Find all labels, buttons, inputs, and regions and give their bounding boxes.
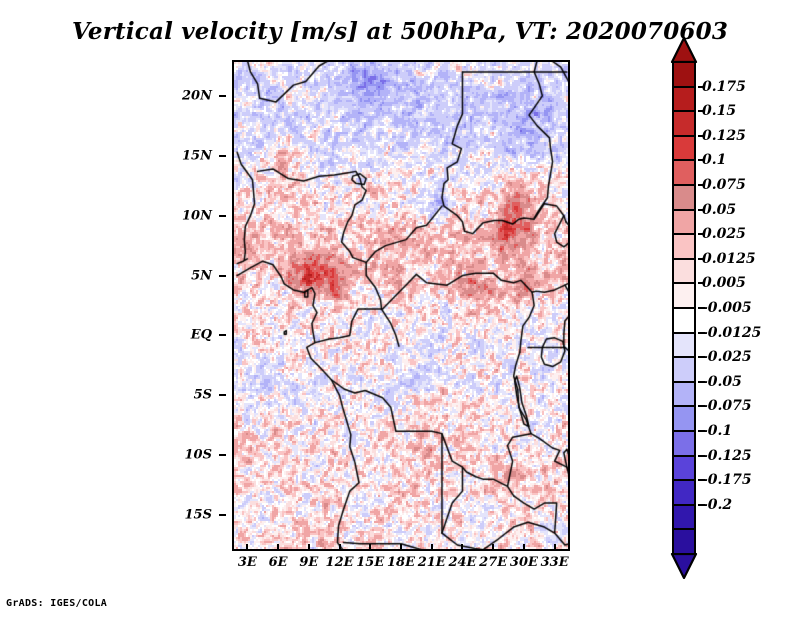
- colorbar-band: [672, 62, 696, 87]
- y-axis-latitude: 20N15N10N5NEQ5S10S15S: [160, 60, 226, 551]
- y-tick-label: 15S: [185, 508, 212, 523]
- colorbar-tick-label: -0.05: [702, 374, 742, 390]
- colorbar-band: [672, 431, 696, 456]
- x-tick-mark: [339, 544, 341, 551]
- x-tick-label: 3E: [238, 555, 257, 570]
- colorbar-band: [672, 210, 696, 235]
- x-axis-longitude: 3E6E9E12E15E18E21E24E27E30E33E: [232, 551, 570, 577]
- colorbar-band: [672, 87, 696, 112]
- colorbar-tick-label: 0.025: [702, 226, 746, 242]
- colorbar-bottom-arrow: [670, 553, 698, 579]
- colorbar-band: [672, 406, 696, 431]
- y-tick-label: 20N: [182, 88, 212, 103]
- x-tick-label: 9E: [299, 555, 318, 570]
- colorbar-band: [672, 136, 696, 161]
- x-tick-mark: [492, 544, 494, 551]
- x-tick-label: 6E: [269, 555, 288, 570]
- colorbar-tick-label: -0.1: [702, 423, 732, 439]
- colorbar-tick-label: -0.005: [702, 300, 752, 316]
- x-tick-mark: [246, 544, 248, 551]
- x-tick-label: 27E: [479, 555, 507, 570]
- colorbar-band: [672, 357, 696, 382]
- colorbar-tick-label: 0.05: [702, 202, 736, 218]
- y-tick-mark: [219, 334, 226, 336]
- colorbar-band: [672, 529, 696, 554]
- colorbar-band: [672, 111, 696, 136]
- colorbar-band: [672, 333, 696, 358]
- colorbar-band: [672, 480, 696, 505]
- y-tick-label: EQ: [191, 328, 212, 343]
- colorbar-tick-label: 0.0125: [702, 251, 756, 267]
- colorbar-tick-label: -0.125: [702, 448, 752, 464]
- y-tick-label: 15N: [182, 148, 212, 163]
- colorbar-tick-label: 0.125: [702, 128, 746, 144]
- colorbar: 0.1750.150.1250.10.0750.050.0250.01250.0…: [672, 62, 696, 554]
- colorbar-band: [672, 234, 696, 259]
- y-tick-mark: [219, 454, 226, 456]
- x-tick-label: 21E: [418, 555, 446, 570]
- map-plot-area: [232, 60, 570, 551]
- country-borders-overlay: [232, 60, 570, 551]
- y-tick-label: 5S: [194, 388, 212, 403]
- x-tick-mark: [554, 544, 556, 551]
- colorbar-tick-label: 0.005: [702, 275, 746, 291]
- x-tick-mark: [400, 544, 402, 551]
- colorbar-tick-label: -0.2: [702, 497, 732, 513]
- x-tick-mark: [431, 544, 433, 551]
- x-tick-mark: [523, 544, 525, 551]
- y-tick-mark: [219, 275, 226, 277]
- colorbar-tick-label: 0.175: [702, 79, 746, 95]
- colorbar-tick-label: 0.075: [702, 177, 746, 193]
- x-tick-label: 18E: [387, 555, 415, 570]
- y-tick-mark: [219, 95, 226, 97]
- colorbar-band: [672, 185, 696, 210]
- y-tick-mark: [219, 394, 226, 396]
- colorbar-tick-label: 0.15: [702, 103, 736, 119]
- x-tick-label: 15E: [356, 555, 384, 570]
- colorbar-tick-label: 0.1: [702, 152, 726, 168]
- attribution-footer: GrADS: IGES/COLA: [6, 598, 107, 609]
- x-tick-mark: [369, 544, 371, 551]
- colorbar-band: [672, 259, 696, 284]
- y-tick-mark: [219, 514, 226, 516]
- y-tick-label: 10S: [185, 448, 212, 463]
- x-tick-label: 30E: [510, 555, 538, 570]
- colorbar-band: [672, 308, 696, 333]
- y-tick-mark: [219, 155, 226, 157]
- colorbar-band: [672, 160, 696, 185]
- colorbar-band: [672, 283, 696, 308]
- x-tick-label: 12E: [326, 555, 354, 570]
- colorbar-band: [672, 505, 696, 530]
- colorbar-tick-label: -0.075: [702, 398, 752, 414]
- x-tick-label: 24E: [448, 555, 476, 570]
- colorbar-band: [672, 456, 696, 481]
- y-tick-mark: [219, 215, 226, 217]
- colorbar-tick-label: -0.0125: [702, 325, 761, 341]
- colorbar-tick-label: -0.175: [702, 472, 752, 488]
- y-tick-label: 10N: [182, 208, 212, 223]
- colorbar-top-arrow: [670, 37, 698, 63]
- x-tick-label: 33E: [541, 555, 569, 570]
- x-tick-mark: [277, 544, 279, 551]
- x-tick-mark: [461, 544, 463, 551]
- colorbar-tick-label: -0.025: [702, 349, 752, 365]
- x-tick-mark: [308, 544, 310, 551]
- y-tick-label: 5N: [191, 268, 212, 283]
- colorbar-band: [672, 382, 696, 407]
